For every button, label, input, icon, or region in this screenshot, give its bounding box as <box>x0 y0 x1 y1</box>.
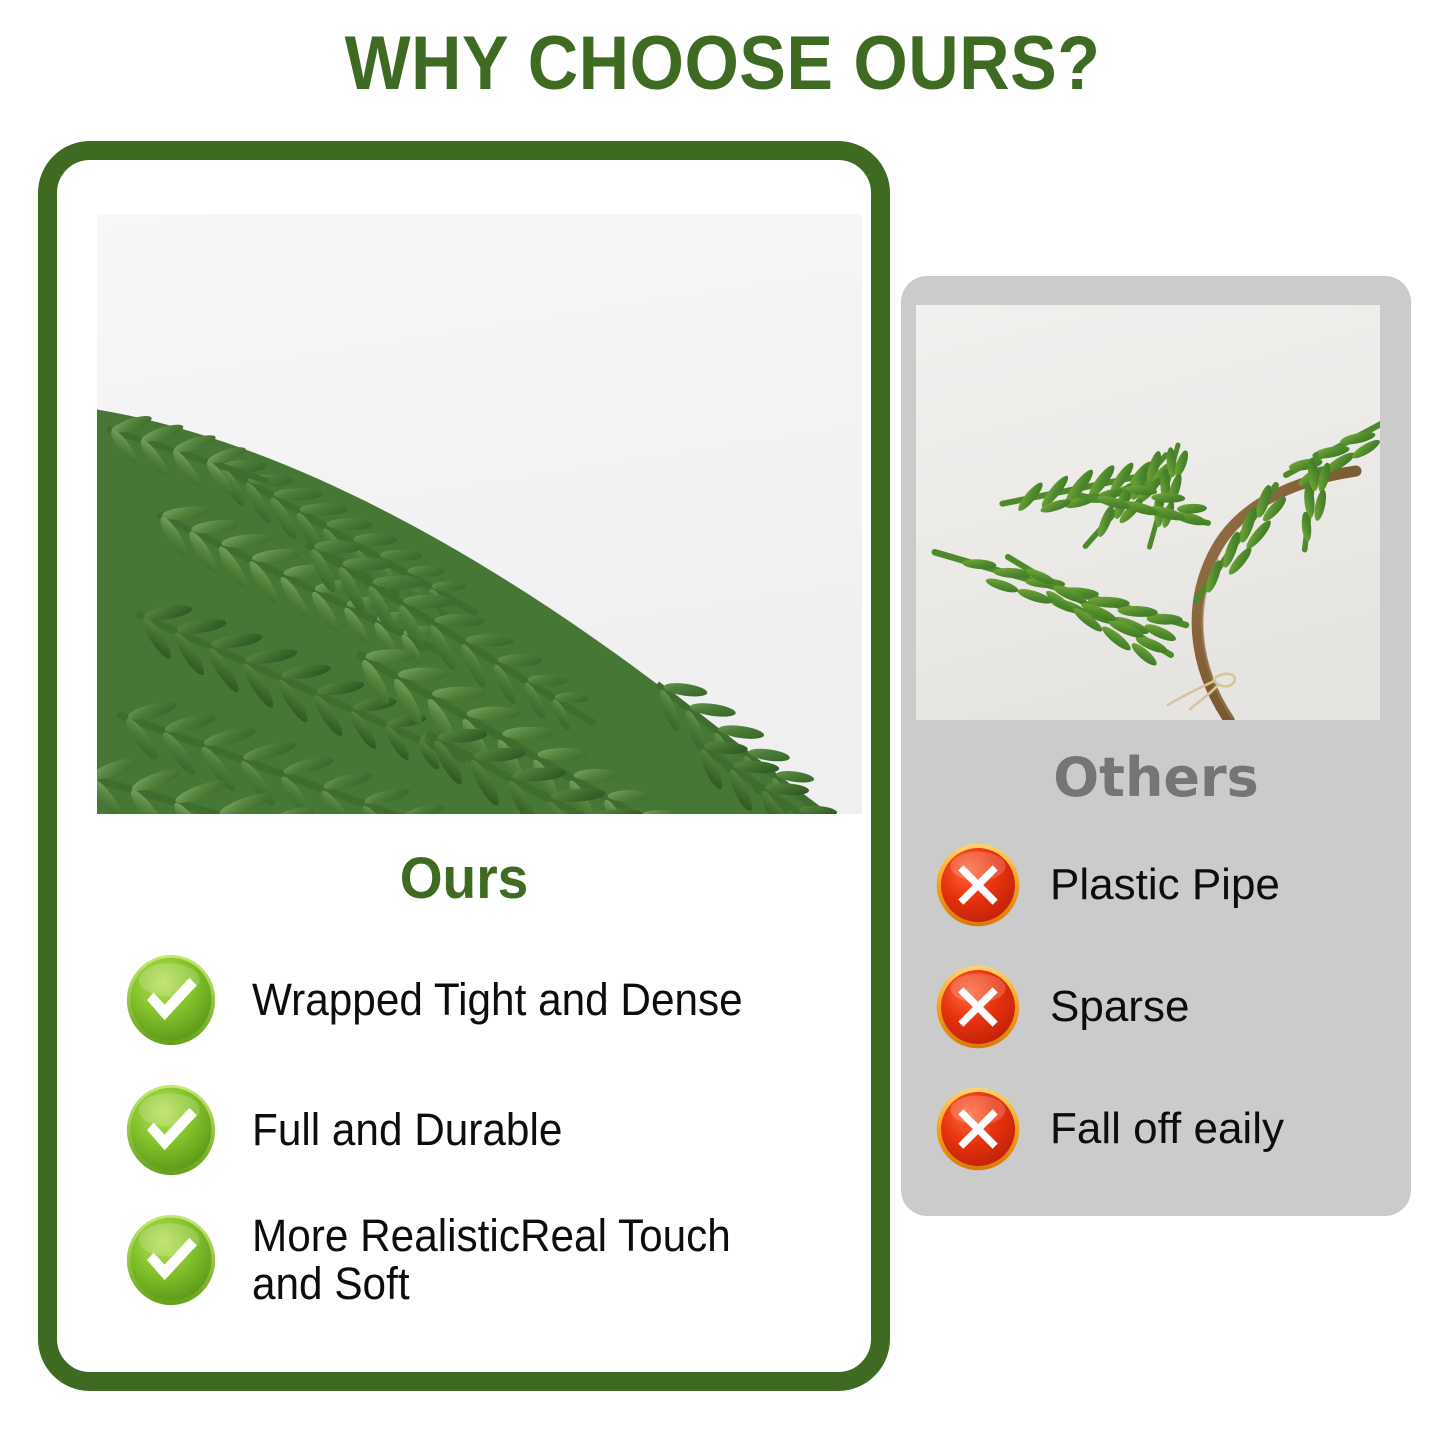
ours-product-photo <box>97 214 862 814</box>
check-icon <box>125 954 217 1046</box>
ours-item-label: Full and Durable <box>252 1106 562 1154</box>
ours-item-label: Wrapped Tight and Dense <box>252 976 743 1024</box>
check-icon <box>125 1084 217 1176</box>
ours-feature-list: Wrapped Tight and Dense Full and Durable… <box>125 935 865 1325</box>
others-list-item: Fall off eaily <box>935 1068 1405 1190</box>
sparse-pine-branch-illustration <box>916 305 1380 720</box>
ours-card: Ours Wr <box>38 141 890 1391</box>
ours-item-label: More RealisticReal Touch and Soft <box>252 1212 731 1307</box>
x-icon <box>935 842 1021 928</box>
others-list-item: Sparse <box>935 946 1405 1068</box>
others-title: Others <box>901 751 1411 805</box>
others-item-label: Fall off eaily <box>1050 1106 1284 1152</box>
others-item-label: Sparse <box>1050 984 1189 1030</box>
dense-pine-garland-illustration <box>97 214 862 814</box>
others-product-photo <box>916 305 1380 720</box>
x-icon <box>935 1086 1021 1172</box>
others-item-label: Plastic Pipe <box>1050 862 1280 908</box>
others-feature-list: Plastic Pipe Sparse Fall off eaily <box>935 824 1405 1190</box>
page-title: WHY CHOOSE OURS? <box>58 22 1387 106</box>
ours-list-item: Wrapped Tight and Dense <box>125 935 865 1065</box>
ours-title: Ours <box>77 850 850 908</box>
ours-list-item: Full and Durable <box>125 1065 865 1195</box>
x-icon <box>935 964 1021 1050</box>
others-list-item: Plastic Pipe <box>935 824 1405 946</box>
others-panel: Others <box>901 276 1411 1216</box>
ours-list-item: More RealisticReal Touch and Soft <box>125 1195 865 1325</box>
check-icon <box>125 1214 217 1306</box>
